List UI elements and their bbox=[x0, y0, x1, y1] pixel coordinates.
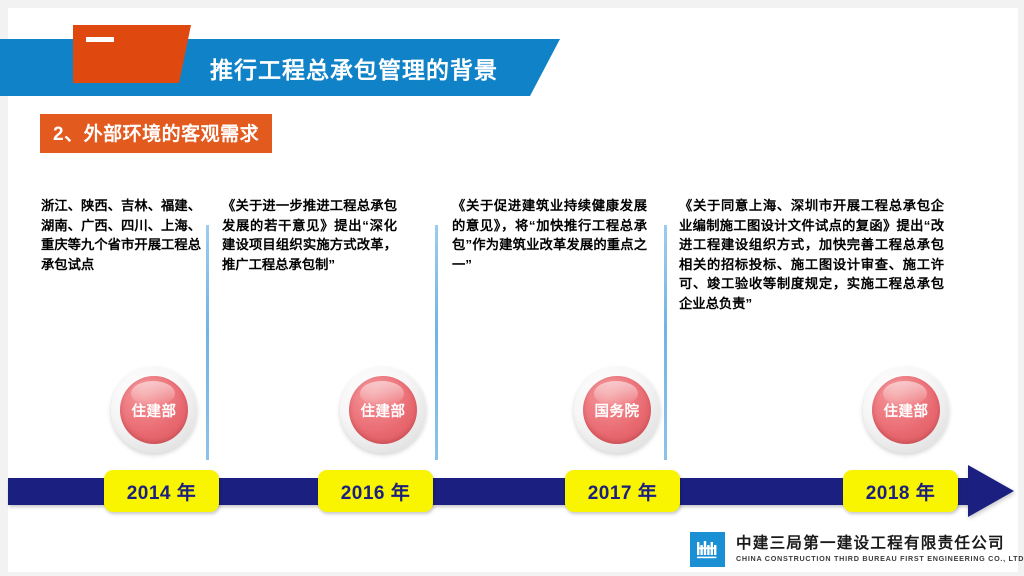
slide-frame-right bbox=[1018, 0, 1024, 576]
footer-company-en: CHINA CONSTRUCTION THIRD BUREAU FIRST EN… bbox=[736, 554, 1024, 564]
agency-badge-4: 住建部 bbox=[863, 367, 949, 453]
slide-frame-top bbox=[0, 0, 1024, 8]
section-subtitle: 2、外部环境的客观需求 bbox=[40, 114, 272, 153]
column-text-4: 《关于同意上海、深圳市开展工程总承包企业编制施工图设计文件试点的复函》提出“改进… bbox=[679, 196, 944, 313]
slide-canvas: 推行工程总承包管理的背景 2、外部环境的客观需求 浙江、陕西、吉林、福建、湖南、… bbox=[0, 0, 1024, 576]
agency-badge-sphere-4: 住建部 bbox=[872, 376, 940, 444]
timeline-arrow-icon bbox=[968, 465, 1014, 517]
agency-badge-label-2: 住建部 bbox=[361, 400, 406, 421]
column-text-1: 浙江、陕西、吉林、福建、湖南、广西、四川、上海、重庆等九个省市开展工程总承包试点 bbox=[41, 196, 201, 274]
agency-badge-label-1: 住建部 bbox=[132, 400, 177, 421]
agency-badge-sphere-3: 国务院 bbox=[583, 376, 651, 444]
year-chip-2016: 2016 年 bbox=[318, 470, 433, 512]
footer-company: 中建三局第一建设工程有限责任公司 CHINA CONSTRUCTION THIR… bbox=[736, 535, 1024, 564]
column-divider-2 bbox=[435, 225, 438, 460]
year-chip-2014: 2014 年 bbox=[104, 470, 219, 512]
year-chip-2017: 2017 年 bbox=[565, 470, 680, 512]
agency-badge-label-4: 住建部 bbox=[884, 400, 929, 421]
column-divider-3 bbox=[664, 225, 667, 460]
agency-badge-3: 国务院 bbox=[574, 367, 660, 453]
footer-company-cn: 中建三局第一建设工程有限责任公司 bbox=[736, 535, 1024, 553]
column-text-2: 《关于进一步推进工程总承包发展的若干意见》提出“深化建设项目组织实施方式改革，推… bbox=[222, 196, 397, 274]
agency-badge-sphere-1: 住建部 bbox=[120, 376, 188, 444]
agency-badge-label-3: 国务院 bbox=[595, 400, 640, 421]
footer: 中建三局第一建设工程有限责任公司 CHINA CONSTRUCTION THIR… bbox=[690, 532, 1024, 567]
column-text-3: 《关于促进建筑业持续健康发展的意见》，将“加快推行工程总承包”作为建筑业改革发展… bbox=[452, 196, 647, 274]
agency-badge-2: 住建部 bbox=[340, 367, 426, 453]
cscec-logo-icon bbox=[690, 532, 725, 567]
header-tab bbox=[73, 25, 191, 83]
column-divider-1 bbox=[206, 225, 209, 460]
dash-mark-icon bbox=[86, 37, 114, 42]
agency-badge-sphere-2: 住建部 bbox=[349, 376, 417, 444]
agency-badge-1: 住建部 bbox=[111, 367, 197, 453]
slide-frame-bottom bbox=[0, 572, 1024, 576]
year-chip-2018: 2018 年 bbox=[843, 470, 958, 512]
